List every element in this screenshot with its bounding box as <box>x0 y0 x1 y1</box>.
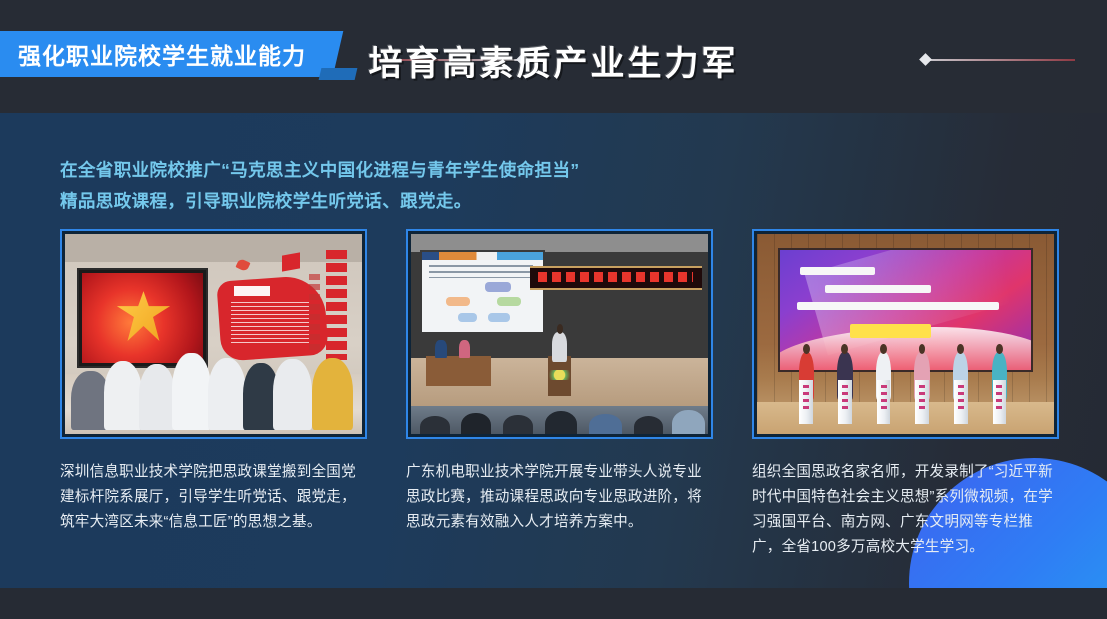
photo-frame <box>752 229 1059 439</box>
speaker-person <box>552 332 567 362</box>
led-banner <box>530 266 702 290</box>
photo-frame <box>60 229 367 439</box>
speaker-head <box>557 324 564 334</box>
intro-paragraph: 在全省职业院校推广“马克思主义中国化进程与青年学生使命担当” 精品思政课程，引导… <box>60 155 820 217</box>
slide-node <box>446 297 470 307</box>
slide-node <box>458 313 477 322</box>
panel-body-text-block <box>231 302 308 344</box>
slide-node <box>485 282 512 292</box>
audience-person <box>461 413 491 434</box>
audience-person <box>672 410 705 434</box>
vertical-wall-text <box>326 250 347 360</box>
card-item[interactable]: 组织全国思政名家名师，开发录制了“习近平新时代中国特色社会主义思想”系列微视频，… <box>752 229 1059 560</box>
slide-text-block <box>429 265 533 278</box>
judge-person <box>435 340 447 358</box>
photo-frame <box>406 229 713 439</box>
launch-pillar <box>993 380 1007 424</box>
card-item[interactable]: 广东机电职业技术学院开展专业带头人说专业思政比赛，推动课程思政向专业思政进阶，将… <box>406 229 713 560</box>
photo-party-exhibition-hall <box>65 234 362 434</box>
person <box>139 364 175 430</box>
projection-screen <box>420 250 545 334</box>
podium-flowers <box>545 370 575 380</box>
hall-ceiling <box>65 234 362 262</box>
seated-students-group <box>65 346 362 430</box>
vertical-wall-subtext <box>309 274 321 350</box>
screen-text-line-1 <box>800 267 875 275</box>
intro-line-2: 精品思政课程，引导职业院校学生听党话、跟党走。 <box>60 186 820 217</box>
audience-person <box>589 414 622 434</box>
slide-node <box>497 297 521 307</box>
guest-head <box>996 344 1003 354</box>
audience-person <box>545 411 578 434</box>
red-flag-icon <box>282 252 300 271</box>
slide-node <box>488 313 510 322</box>
launch-pillar <box>838 380 852 424</box>
audience-person <box>503 415 533 434</box>
decorative-line-right-icon <box>925 59 1075 61</box>
launch-pillar <box>915 380 929 424</box>
card-list: 深圳信息职业技术学院把思政课堂搬到全国党建标杆院系展厅，引导学生听党话、跟党走，… <box>60 229 1060 560</box>
screen-text-line-2 <box>825 285 931 293</box>
person <box>312 358 354 430</box>
led-banner-text <box>538 272 693 282</box>
card-item[interactable]: 深圳信息职业技术学院把思政课堂搬到全国党建标杆院系展厅，引导学生听党话、跟党走，… <box>60 229 367 560</box>
guest-head <box>880 344 887 354</box>
slide-header-bar <box>422 252 543 260</box>
screen-text-line-3 <box>797 302 998 310</box>
person <box>104 361 143 430</box>
audience-person <box>420 416 450 434</box>
footer-band <box>0 588 1107 619</box>
launch-pillar <box>799 380 813 424</box>
audience-person <box>634 416 664 434</box>
person <box>208 358 247 430</box>
card-caption: 深圳信息职业技术学院把思政课堂搬到全国党建标杆院系展厅，引导学生听党话、跟党走，… <box>60 460 367 535</box>
guest-head <box>803 344 810 354</box>
judge-person <box>459 340 471 358</box>
guest-head <box>957 344 964 354</box>
judges-table <box>426 356 491 386</box>
person <box>273 359 312 430</box>
content-panel: 在全省职业院校推广“马克思主义中国化进程与青年学生使命担当” 精品思政课程，引导… <box>0 113 1107 588</box>
header-band: 强化职业院校学生就业能力 培育高素质产业生力军 <box>0 0 1107 113</box>
intro-line-1: 在全省职业院校推广“马克思主义中国化进程与青年学生使命担当” <box>60 155 820 186</box>
person <box>172 353 211 430</box>
launch-pillar <box>954 380 968 424</box>
photo-launch-ceremony <box>757 234 1054 434</box>
card-caption: 组织全国思政名家名师，开发录制了“习近平新时代中国特色社会主义思想”系列微视频，… <box>752 460 1059 560</box>
panel-heading-block <box>234 286 270 296</box>
launch-pillar <box>877 380 891 424</box>
audience-rows <box>411 406 708 434</box>
photo-auditorium-competition <box>411 234 708 434</box>
screen-headline <box>850 324 930 337</box>
card-caption: 广东机电职业技术学院开展专业带头人说专业思政比赛，推动课程思政向专业思政进阶，将… <box>406 460 713 535</box>
